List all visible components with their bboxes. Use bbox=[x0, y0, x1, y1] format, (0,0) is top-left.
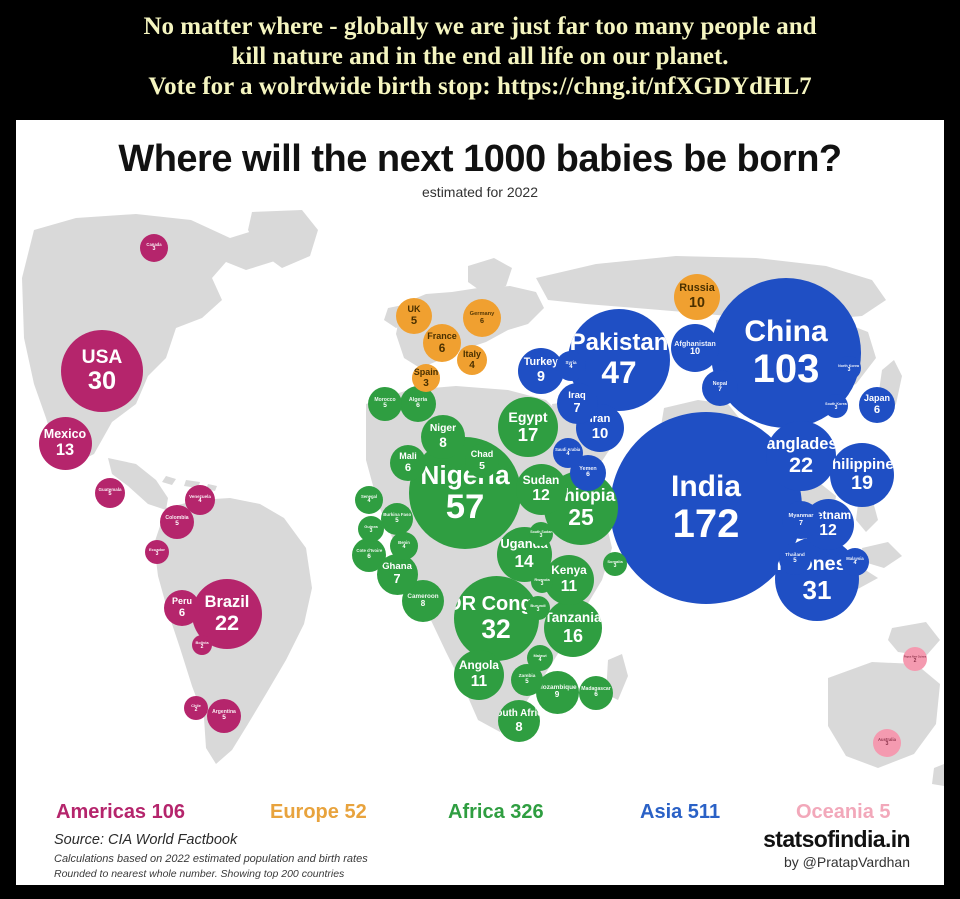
bubble-value: 7 bbox=[573, 402, 580, 415]
bubble-country-name: Ecuador bbox=[149, 548, 165, 552]
caption-line-2: kill nature and in the end all life on o… bbox=[231, 42, 728, 72]
brand-block: statsofindia.in by @PratapVardhan bbox=[763, 826, 910, 870]
bubble-country-name: USA bbox=[82, 348, 123, 367]
bubble-value: 2 bbox=[195, 708, 198, 713]
bubble-country-name: Cameroon bbox=[407, 594, 438, 600]
bubble-value: 3 bbox=[156, 552, 159, 557]
bubble-bolivia[interactable]: Bolivia2 bbox=[192, 635, 212, 655]
bubble-value: 16 bbox=[563, 627, 583, 645]
bubble-country-name: Syria bbox=[565, 361, 576, 366]
bubble-country-name: Thailand bbox=[785, 554, 805, 559]
bubble-mexico[interactable]: Mexico13 bbox=[39, 417, 92, 470]
bubble-value: 3 bbox=[540, 534, 543, 539]
bubble-mali[interactable]: Mali6 bbox=[390, 445, 426, 481]
bubble-usa[interactable]: USA30 bbox=[61, 330, 143, 412]
bubble-guinea[interactable]: Guinea3 bbox=[358, 516, 384, 542]
bubble-country-name: Angola bbox=[459, 660, 499, 672]
bubble-papua-new-guinea[interactable]: Papua New Guinea2 bbox=[903, 647, 927, 671]
legend-item-americas: Americas 106 bbox=[56, 801, 185, 824]
bubble-country-name: Bangladesh bbox=[766, 436, 836, 452]
bubble-country-name: Papua New Guinea bbox=[904, 655, 926, 657]
bubble-country-name: Mexico bbox=[44, 428, 86, 441]
bubble-cote-d-ivoire[interactable]: Cote d'Ivoire6 bbox=[352, 538, 386, 572]
bubble-layer: India172China103Nigeria57Pakistan47Indon… bbox=[16, 208, 944, 788]
bubble-sudan[interactable]: Sudan12 bbox=[516, 464, 567, 515]
bubble-value: 5 bbox=[395, 518, 398, 524]
bubble-value: 9 bbox=[555, 691, 560, 699]
bubble-country-name: Japan bbox=[864, 394, 890, 403]
page-subtitle: estimated for 2022 bbox=[16, 184, 944, 200]
bubble-dr-congo[interactable]: DR Congo32 bbox=[454, 576, 539, 661]
bubble-value: 3 bbox=[541, 582, 544, 587]
bubble-value: 8 bbox=[515, 720, 522, 733]
bubble-value: 5 bbox=[175, 521, 179, 528]
bubble-country-name: Algeria bbox=[409, 398, 427, 403]
bubble-value: 5 bbox=[411, 316, 417, 327]
bubble-value: 17 bbox=[518, 426, 539, 445]
bubble-value: 5 bbox=[108, 492, 111, 498]
bubble-country-name: Rwanda bbox=[534, 578, 549, 582]
bubble-benin[interactable]: Benin4 bbox=[390, 532, 418, 560]
bubble-spain[interactable]: Spain3 bbox=[412, 364, 440, 392]
bubble-chile[interactable]: Chile2 bbox=[184, 696, 208, 720]
bubble-country-name: Zambia bbox=[519, 675, 536, 680]
bubble-country-name: Chile bbox=[191, 704, 201, 708]
bubble-south-korea[interactable]: South Korea3 bbox=[824, 394, 848, 418]
bubble-value: 47 bbox=[601, 357, 636, 389]
bubble-country-name: Australia bbox=[878, 738, 896, 742]
bubble-value: 8 bbox=[439, 436, 447, 450]
bubble-country-name: Cote d'Ivoire bbox=[356, 550, 382, 554]
bubble-value: 9 bbox=[537, 370, 545, 384]
bubble-value: 7 bbox=[718, 387, 722, 394]
bubble-value: 3 bbox=[835, 406, 838, 411]
bubble-burundi[interactable]: Burundi3 bbox=[526, 596, 550, 620]
bubble-country-name: Somalia bbox=[607, 560, 622, 564]
bubble-country-name: Tanzania bbox=[544, 611, 601, 625]
bubble-country-name: UK bbox=[408, 305, 421, 314]
source-line: Source: CIA World Factbook bbox=[54, 832, 237, 848]
bubble-country-name: Spain bbox=[414, 368, 439, 377]
bubble-value: 12 bbox=[532, 488, 550, 504]
bubble-value: 103 bbox=[753, 349, 820, 389]
bubble-value: 2 bbox=[201, 645, 204, 650]
bubble-russia[interactable]: Russia10 bbox=[674, 274, 720, 320]
bubble-value: 3 bbox=[370, 529, 373, 534]
bubble-value: 7 bbox=[799, 519, 803, 526]
bubble-country-name: Nepal bbox=[713, 382, 728, 387]
bubble-nepal[interactable]: Nepal7 bbox=[702, 370, 738, 406]
bubble-value: 3 bbox=[848, 368, 851, 373]
bubble-country-name: Brazil bbox=[205, 594, 250, 610]
bubble-value: 32 bbox=[481, 616, 510, 642]
bubble-myanmar[interactable]: Myanmar7 bbox=[782, 501, 820, 539]
bubble-value: 5 bbox=[479, 461, 485, 472]
bubble-value: 3 bbox=[886, 742, 889, 747]
bubble-value: 12 bbox=[819, 523, 837, 539]
bubble-saudi-arabia[interactable]: Saudi Arabia4 bbox=[553, 438, 583, 468]
bubble-value: 4 bbox=[368, 499, 371, 504]
bubble-country-name: South Korea bbox=[825, 402, 846, 406]
bubble-value: 19 bbox=[851, 474, 873, 494]
bubble-syria[interactable]: Syria4 bbox=[556, 351, 586, 381]
bubble-value: 6 bbox=[367, 554, 371, 561]
bubble-value: 10 bbox=[690, 347, 700, 356]
bubble-south-sudan[interactable]: South Sudan3 bbox=[529, 522, 553, 546]
bubble-uk[interactable]: UK5 bbox=[396, 298, 432, 334]
bubble-value: 22 bbox=[789, 454, 813, 476]
bubble-country-name: Malawi bbox=[533, 654, 546, 658]
bubble-value: 3 bbox=[153, 247, 156, 252]
bubble-peru[interactable]: Peru6 bbox=[164, 590, 200, 626]
bubble-angola[interactable]: Angola11 bbox=[454, 650, 504, 700]
bubble-country-name: Madagascar bbox=[581, 687, 610, 692]
bubble-value: 3 bbox=[537, 608, 540, 613]
bubble-country-name: Mali bbox=[399, 452, 417, 461]
bubble-niger[interactable]: Niger8 bbox=[421, 415, 465, 459]
bubble-country-name: Canada bbox=[146, 243, 161, 247]
bubble-value: 6 bbox=[405, 463, 411, 474]
bubble-value: 4 bbox=[469, 361, 475, 371]
bubble-guatemala[interactable]: Guatemala5 bbox=[95, 478, 125, 508]
bubble-country-name: Burkina Faso bbox=[383, 514, 411, 518]
bubble-value: 6 bbox=[439, 343, 446, 355]
bubble-value: 6 bbox=[594, 692, 598, 699]
bubble-country-name: Ghana bbox=[382, 562, 412, 572]
bubble-value: 6 bbox=[179, 608, 185, 619]
rounding-note: Rounded to nearest whole number. Showing… bbox=[54, 868, 344, 880]
bubble-rwanda[interactable]: Rwanda3 bbox=[531, 571, 553, 593]
bubble-value: 10 bbox=[689, 296, 705, 310]
bubble-country-name: Yemen bbox=[579, 467, 596, 472]
bubble-madagascar[interactable]: Madagascar6 bbox=[579, 676, 613, 710]
bubble-thailand[interactable]: Thailand5 bbox=[779, 543, 811, 575]
bubble-iraq[interactable]: Iraq7 bbox=[557, 383, 598, 424]
bubble-value: 3 bbox=[614, 564, 617, 569]
infographic-root: No matter where - globally we are just f… bbox=[0, 0, 960, 899]
bubble-value: 3 bbox=[423, 379, 429, 389]
caption-banner: No matter where - globally we are just f… bbox=[0, 0, 960, 113]
bubble-country-name: Burundi bbox=[530, 604, 545, 608]
bubble-value: 6 bbox=[480, 317, 484, 324]
brand-name: statsofindia.in bbox=[763, 826, 910, 853]
bubble-country-name: Philippines bbox=[830, 457, 894, 472]
bubble-value: 11 bbox=[561, 579, 577, 595]
bubble-value: 172 bbox=[673, 504, 740, 544]
legend-item-europe: Europe 52 bbox=[270, 801, 367, 824]
bubble-country-name: Guinea bbox=[364, 525, 378, 529]
map-card: Where will the next 1000 babies be born?… bbox=[16, 120, 944, 885]
bubble-france[interactable]: France6 bbox=[423, 324, 461, 362]
bubble-country-name: Morocco bbox=[374, 398, 395, 403]
bubble-country-name: Peru bbox=[172, 597, 192, 606]
bubble-country-name: Italy bbox=[463, 350, 481, 359]
bubble-country-name: China bbox=[744, 317, 827, 347]
bubble-country-name: Mozambique bbox=[537, 685, 576, 692]
legend-item-asia: Asia 511 bbox=[640, 801, 720, 824]
bubble-algeria[interactable]: Algeria6 bbox=[400, 386, 436, 422]
bubble-country-name: Venezuela bbox=[189, 495, 211, 500]
bubble-country-name: Bolivia bbox=[195, 641, 208, 645]
bubble-country-name: India bbox=[671, 472, 741, 502]
bubble-ecuador[interactable]: Ecuador3 bbox=[145, 540, 169, 564]
bubble-value: 25 bbox=[568, 506, 593, 529]
bubble-somalia[interactable]: Somalia3 bbox=[603, 552, 627, 576]
bubble-country-name: Malaysia bbox=[846, 557, 863, 561]
bubble-value: 5 bbox=[222, 715, 226, 722]
bubble-japan[interactable]: Japan6 bbox=[859, 387, 895, 423]
bubble-country-name: Senegal bbox=[361, 495, 377, 499]
bubble-value: 31 bbox=[803, 577, 832, 603]
bubble-bangladesh[interactable]: Bangladesh22 bbox=[766, 421, 836, 491]
bubble-value: 8 bbox=[421, 600, 425, 608]
bubble-value: 6 bbox=[416, 403, 420, 410]
bubble-value: 2 bbox=[914, 659, 917, 664]
bubble-morocco[interactable]: Morocco5 bbox=[368, 387, 402, 421]
bubble-country-name: South Sudan bbox=[530, 530, 552, 534]
bubble-nigeria[interactable]: Nigeria57 bbox=[409, 437, 521, 549]
legend-item-oceania: Oceania 5 bbox=[796, 801, 891, 824]
bubble-value: 10 bbox=[592, 427, 609, 442]
bubble-country-name: Kenya bbox=[551, 565, 586, 577]
bubble-country-name: Argentina bbox=[212, 710, 236, 715]
bubble-value: 11 bbox=[471, 674, 487, 690]
bubble-value: 14 bbox=[514, 553, 533, 570]
bubble-canada[interactable]: Canada3 bbox=[140, 234, 168, 262]
bubble-country-name: Germany bbox=[470, 312, 495, 318]
bubble-tanzania[interactable]: Tanzania16 bbox=[544, 599, 602, 657]
bubble-country-name: Iraq bbox=[568, 391, 586, 401]
bubble-burkina-faso[interactable]: Burkina Faso5 bbox=[381, 503, 413, 535]
bubble-value: 5 bbox=[793, 558, 796, 564]
bubble-country-name: South Africa bbox=[498, 709, 540, 719]
bubble-country-name: Benin bbox=[398, 541, 410, 545]
bubble-country-name: Sudan bbox=[523, 474, 560, 486]
bubble-south-africa[interactable]: South Africa8 bbox=[498, 700, 540, 742]
bubble-philippines[interactable]: Philippines19 bbox=[830, 443, 894, 507]
bubble-value: 5 bbox=[383, 403, 387, 410]
page-title: Where will the next 1000 babies be born? bbox=[16, 138, 944, 181]
bubble-country-name: Myanmar bbox=[789, 514, 814, 520]
bubble-italy[interactable]: Italy4 bbox=[457, 345, 487, 375]
bubble-country-name: Egypt bbox=[508, 410, 547, 424]
bubble-value: 4 bbox=[854, 561, 857, 566]
bubble-value: 57 bbox=[446, 490, 485, 525]
bubble-egypt[interactable]: Egypt17 bbox=[498, 397, 558, 457]
bubble-value: 5 bbox=[525, 679, 528, 685]
bubble-senegal[interactable]: Senegal4 bbox=[355, 486, 383, 514]
bubble-australia[interactable]: Australia3 bbox=[873, 729, 901, 757]
bubble-venezuela[interactable]: Venezuela4 bbox=[185, 485, 215, 515]
brand-author: by @PratapVardhan bbox=[763, 854, 910, 870]
bubble-afghanistan[interactable]: Afghanistan10 bbox=[671, 324, 719, 372]
bubble-value: 22 bbox=[215, 612, 239, 634]
bubble-value: 4 bbox=[569, 365, 572, 371]
calculation-note: Calculations based on 2022 estimated pop… bbox=[54, 853, 368, 865]
legend-item-africa: Africa 326 bbox=[448, 801, 544, 824]
bubble-argentina[interactable]: Argentina5 bbox=[207, 699, 241, 733]
caption-line-3: Vote for a wolrdwide birth stop: https:/… bbox=[148, 72, 811, 102]
bubble-country-name: Chad bbox=[471, 450, 494, 459]
bubble-value: 4 bbox=[198, 499, 201, 505]
bubble-chad[interactable]: Chad5 bbox=[465, 444, 499, 478]
bubble-value: 13 bbox=[56, 442, 74, 458]
bubble-malaysia[interactable]: Malaysia4 bbox=[841, 548, 869, 576]
bubble-value: 6 bbox=[874, 405, 880, 416]
bubble-country-name: North Korea bbox=[839, 364, 860, 368]
bubble-malawi[interactable]: Malawi4 bbox=[527, 645, 553, 671]
bubble-country-name: Russia bbox=[679, 283, 714, 294]
bubble-value: 4 bbox=[403, 545, 406, 550]
bubble-country-name: France bbox=[427, 332, 457, 341]
bubble-north-korea[interactable]: North Korea3 bbox=[837, 356, 861, 380]
bubble-value: 4 bbox=[539, 658, 542, 663]
bubble-value: 6 bbox=[586, 472, 590, 479]
bubble-country-name: Saudi Arabia bbox=[555, 448, 580, 452]
bubble-country-name: Guatemala bbox=[98, 488, 121, 493]
bubble-value: 30 bbox=[88, 369, 116, 394]
caption-line-1: No matter where - globally we are just f… bbox=[143, 12, 816, 42]
bubble-country-name: Afghanistan bbox=[674, 340, 716, 347]
bubble-germany[interactable]: Germany6 bbox=[463, 299, 501, 337]
bubble-country-name: Turkey bbox=[524, 357, 559, 368]
bubble-value: 7 bbox=[393, 573, 400, 586]
bubble-country-name: Colombia bbox=[165, 516, 188, 521]
bubble-country-name: Pakistan bbox=[570, 331, 669, 355]
bubble-country-name: Niger bbox=[430, 424, 456, 434]
bubble-value: 4 bbox=[566, 452, 569, 458]
